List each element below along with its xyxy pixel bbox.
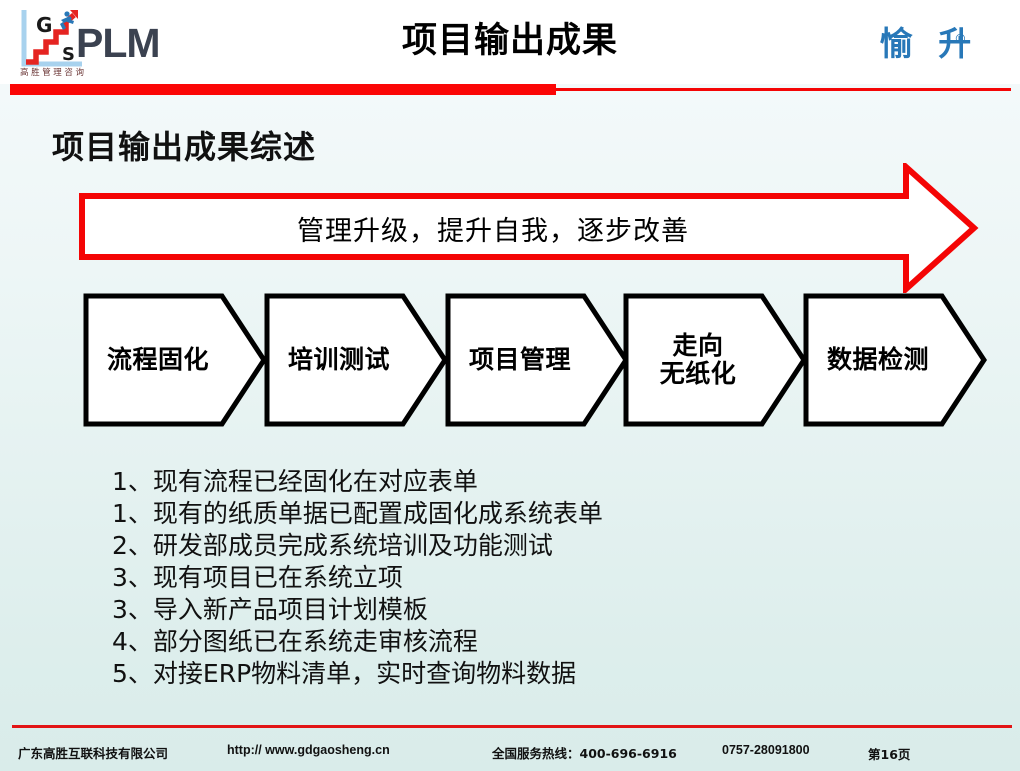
footer-page-number: 第16页 [868, 744, 910, 763]
yusheng-logo-text: 愉 升 ® [880, 17, 979, 65]
list-item: 3、现有项目已在系统立项 [112, 564, 872, 593]
list-item: 1、现有的纸质单据已配置成固化成系统表单 [112, 500, 872, 529]
process-chevron-row: 流程固化 培训测试 项目管理 走向 无纸化 数据检测 [0, 292, 1020, 432]
footer-hotline: 全国服务热线：400-696-6916 [492, 743, 677, 762]
header-rule-thick [10, 84, 556, 95]
footer-telephone: 0757-28091800 [722, 743, 810, 757]
footer-company: 广东高胜互联科技有限公司 [18, 743, 168, 762]
process-step-3[interactable]: 项目管理 [444, 292, 630, 428]
process-step-2[interactable]: 培训测试 [263, 292, 449, 428]
list-item: 3、导入新产品项目计划模板 [112, 596, 872, 625]
registered-trademark-icon: ® [956, 31, 973, 46]
header-rule-thin [556, 88, 1011, 91]
outcome-list: 1、现有流程已经固化在对应表单 1、现有的纸质单据已配置成固化成系统表单 2、研… [112, 468, 872, 692]
slide-footer: 广东高胜互联科技有限公司 http:// www.gdgaosheng.cn 全… [0, 738, 1020, 771]
process-step-1[interactable]: 流程固化 [82, 292, 268, 428]
section-heading: 项目输出成果综述 [52, 122, 316, 168]
list-item: 1、现有流程已经固化在对应表单 [112, 468, 872, 497]
yusheng-logo: 愉 升 ® [856, 10, 1002, 72]
slide-canvas: G S PLM 高胜管理咨询 项目输出成果 愉 升 ® 项目输出成果综述 管理升… [0, 0, 1020, 771]
footer-website-link[interactable]: http:// www.gdgaosheng.cn [227, 743, 390, 757]
list-item: 4、部分图纸已在系统走审核流程 [112, 628, 872, 657]
list-item: 2、研发部成员完成系统培训及功能测试 [112, 532, 872, 561]
banner-arrow: 管理升级，提升自我，逐步改善 [78, 163, 980, 293]
slide-header: G S PLM 高胜管理咨询 项目输出成果 愉 升 ® [0, 0, 1020, 84]
process-step-4[interactable]: 走向 无纸化 [622, 292, 808, 428]
gsplm-logo-tagline: 高胜管理咨询 [20, 66, 87, 78]
process-step-5[interactable]: 数据检测 [802, 292, 988, 428]
footer-divider [12, 725, 1012, 728]
list-item: 5、对接ERP物料清单，实时查询物料数据 [112, 660, 872, 689]
